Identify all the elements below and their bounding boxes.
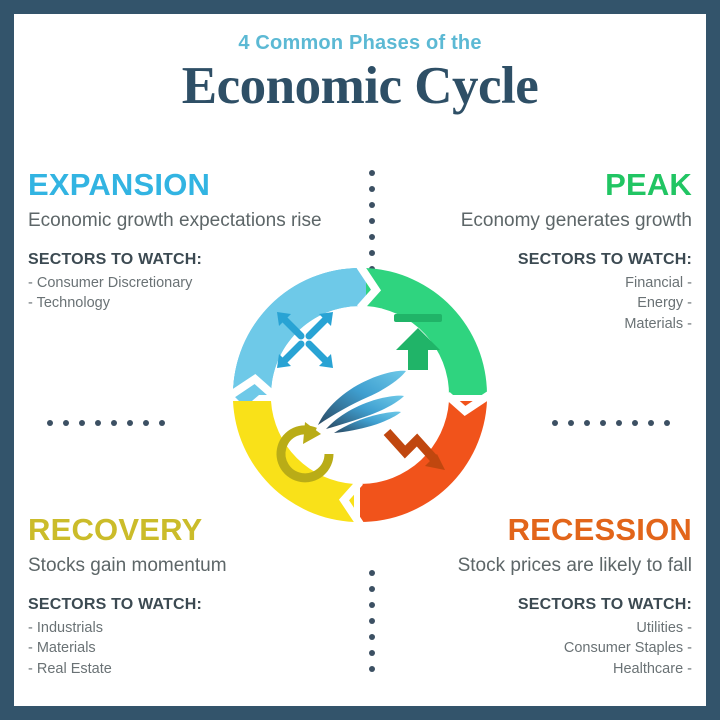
divider-dot: [369, 170, 375, 176]
quadrant-recovery-sector-list: - Industrials - Materials - Real Estate: [28, 618, 328, 680]
list-item: - Real Estate: [28, 659, 328, 680]
divider-dot: [369, 186, 375, 192]
divider-dot: [369, 218, 375, 224]
quadrant-peak-title: PEAK: [392, 169, 692, 202]
divider-dot: [111, 420, 117, 426]
header: 4 Common Phases of the Economic Cycle: [14, 14, 706, 114]
list-item: - Industrials: [28, 618, 328, 639]
divider-dot: [79, 420, 85, 426]
quadrant-expansion-subtitle: Economic growth expectations rise: [28, 209, 328, 232]
divider-dot: [584, 420, 590, 426]
divider-dot: [616, 420, 622, 426]
quadrant-expansion-title: EXPANSION: [28, 169, 328, 202]
divider-dot: [369, 250, 375, 256]
quadrant-recession-subtitle: Stock prices are likely to fall: [392, 554, 692, 577]
quadrant-recovery-subtitle: Stocks gain momentum: [28, 554, 328, 577]
divider-dot: [159, 420, 165, 426]
list-item: Healthcare -: [392, 659, 692, 680]
divider-dot: [664, 420, 670, 426]
divider-dot: [369, 202, 375, 208]
divider-dot: [369, 586, 375, 592]
divider-dot: [369, 618, 375, 624]
divider-dot: [369, 234, 375, 240]
quadrant-recovery: RECOVERY Stocks gain momentum SECTORS TO…: [28, 514, 328, 695]
quadrant-recession-sectors-label: SECTORS TO WATCH:: [392, 596, 692, 614]
divider-dot: [47, 420, 53, 426]
divider-dot: [63, 420, 69, 426]
list-item: Utilities -: [392, 618, 692, 639]
divider-dot: [632, 420, 638, 426]
divider-dot: [552, 420, 558, 426]
divider-dot: [95, 420, 101, 426]
divider-dot: [369, 650, 375, 656]
divider-dot: [568, 420, 574, 426]
quadrant-peak-subtitle: Economy generates growth: [392, 209, 692, 232]
economic-cycle-donut: [225, 260, 495, 530]
divider-dot: [127, 420, 133, 426]
quadrant-recovery-sectors-label: SECTORS TO WATCH:: [28, 596, 328, 614]
list-item: Consumer Staples -: [392, 638, 692, 659]
divider-dot: [369, 666, 375, 672]
divider-dot: [369, 602, 375, 608]
list-item: - Materials: [28, 638, 328, 659]
divider-dot: [143, 420, 149, 426]
quadrant-recession: RECESSION Stock prices are likely to fal…: [392, 514, 692, 695]
header-kicker: 4 Common Phases of the: [14, 32, 706, 55]
divider-dot: [369, 634, 375, 640]
divider-dot: [369, 570, 375, 576]
divider-dot: [600, 420, 606, 426]
divider-dot: [648, 420, 654, 426]
page-title: Economic Cycle: [14, 59, 706, 114]
quadrant-recession-sector-list: Utilities - Consumer Staples - Healthcar…: [392, 618, 692, 680]
infographic-canvas: 4 Common Phases of the Economic Cycle EX…: [14, 14, 706, 706]
